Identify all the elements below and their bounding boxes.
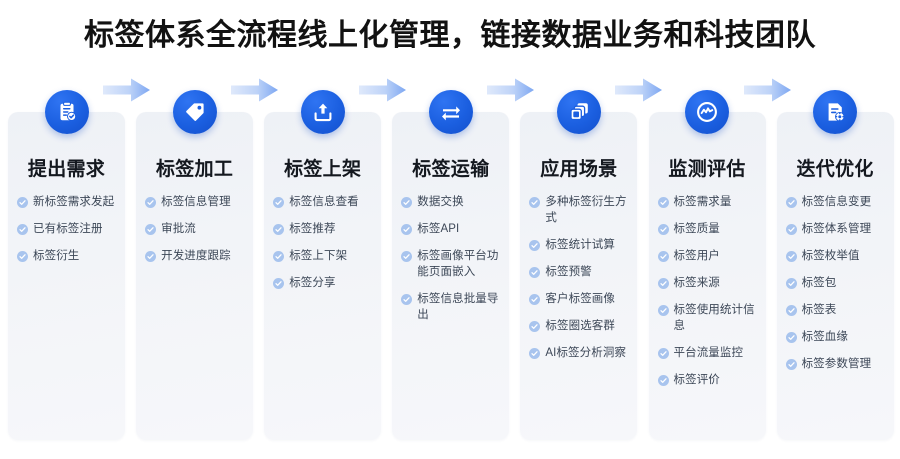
list-item-label: 标签包 [802, 275, 837, 291]
list-item-label: 标签评价 [674, 372, 720, 388]
check-circle-icon [658, 223, 669, 234]
list-item-label: 标签API [417, 221, 459, 237]
step-title: 标签加工 [136, 154, 253, 181]
process-step-card[interactable]: 标签加工标签信息管理审批流开发进度跟踪 [136, 112, 253, 440]
flow-arrow-icon [744, 76, 792, 104]
step-title: 标签上架 [264, 154, 381, 181]
check-circle-icon [273, 250, 284, 261]
list-item[interactable]: 多种标签衍生方式 [529, 194, 630, 226]
list-item-label: 标签信息批量导出 [417, 291, 502, 323]
list-item[interactable]: 数据交换 [401, 194, 502, 210]
list-item[interactable]: 标签来源 [658, 275, 759, 291]
list-item[interactable]: 开发进度跟踪 [145, 248, 246, 264]
infographic-page: 标签体系全流程线上化管理，链接数据业务和科技团队 提出需求新标签需求发起已有标签… [0, 0, 900, 459]
list-item[interactable]: 标签质量 [658, 221, 759, 237]
check-circle-icon [529, 293, 540, 304]
list-item[interactable]: 标签包 [786, 275, 887, 291]
check-circle-icon [401, 293, 412, 304]
check-circle-icon [273, 196, 284, 207]
list-item-label: 标签圈选客群 [545, 318, 615, 334]
step-feature-list: 新标签需求发起已有标签注册标签衍生 [17, 194, 118, 275]
list-item-label: 标签推荐 [289, 221, 335, 237]
list-item[interactable]: 标签体系管理 [786, 221, 887, 237]
process-step-card[interactable]: 提出需求新标签需求发起已有标签注册标签衍生 [8, 112, 125, 440]
list-item-label: 标签信息管理 [161, 194, 231, 210]
step-feature-list: 标签信息变更标签体系管理标签枚举值标签包标签表标签血缘标签参数管理 [786, 194, 887, 383]
list-item-label: 开发进度跟踪 [161, 248, 231, 264]
process-step-card[interactable]: 迭代优化标签信息变更标签体系管理标签枚举值标签包标签表标签血缘标签参数管理 [777, 112, 894, 440]
list-item-label: 客户标签画像 [545, 291, 615, 307]
list-item[interactable]: 标签枚举值 [786, 248, 887, 264]
flow-arrow-icon [615, 76, 663, 104]
list-item-label: 数据交换 [417, 194, 463, 210]
list-item[interactable]: 标签统计试算 [529, 237, 630, 253]
check-circle-icon [786, 250, 797, 261]
list-item-label: 多种标签衍生方式 [545, 194, 630, 226]
check-circle-icon [273, 223, 284, 234]
list-item[interactable]: 标签分享 [273, 275, 374, 291]
list-item-label: 标签统计试算 [545, 237, 615, 253]
check-circle-icon [529, 320, 540, 331]
layers-icon [557, 90, 601, 134]
check-circle-icon [658, 250, 669, 261]
step-feature-list: 数据交换标签API标签画像平台功能页面嵌入标签信息批量导出 [401, 194, 502, 334]
check-circle-icon [529, 266, 540, 277]
monitor-pulse-icon [685, 90, 729, 134]
document-gear-icon [813, 90, 857, 134]
step-title: 迭代优化 [777, 154, 894, 181]
check-circle-icon [145, 250, 156, 261]
flow-arrow-icon [487, 76, 535, 104]
step-feature-list: 标签需求量标签质量标签用户标签来源标签使用统计信息平台流量监控标签评价 [658, 194, 759, 399]
process-flow: 提出需求新标签需求发起已有标签注册标签衍生标签加工标签信息管理审批流开发进度跟踪… [0, 88, 900, 448]
check-circle-icon [658, 374, 669, 385]
list-item[interactable]: 平台流量监控 [658, 345, 759, 361]
flow-arrow-icon [103, 76, 151, 104]
step-feature-list: 多种标签衍生方式标签统计试算标签预警客户标签画像标签圈选客群AI标签分析洞察 [529, 194, 630, 372]
list-item[interactable]: 标签需求量 [658, 194, 759, 210]
check-circle-icon [786, 304, 797, 315]
list-item[interactable]: 标签用户 [658, 248, 759, 264]
process-step-card[interactable]: 标签上架标签信息查看标签推荐标签上下架标签分享 [264, 112, 381, 440]
list-item-label: 标签体系管理 [802, 221, 872, 237]
list-item-label: 标签质量 [674, 221, 720, 237]
check-circle-icon [17, 250, 28, 261]
list-item-label: 新标签需求发起 [33, 194, 114, 210]
list-item-label: 标签信息查看 [289, 194, 359, 210]
list-item[interactable]: 标签参数管理 [786, 356, 887, 372]
check-circle-icon [145, 196, 156, 207]
list-item[interactable]: 标签血缘 [786, 329, 887, 345]
check-circle-icon [17, 196, 28, 207]
list-item[interactable]: AI标签分析洞察 [529, 345, 630, 361]
check-circle-icon [658, 347, 669, 358]
list-item[interactable]: 客户标签画像 [529, 291, 630, 307]
check-circle-icon [786, 223, 797, 234]
exchange-arrows-icon [429, 90, 473, 134]
upload-icon [301, 90, 345, 134]
check-circle-icon [17, 223, 28, 234]
list-item-label: 标签来源 [674, 275, 720, 291]
list-item-label: 标签预警 [545, 264, 591, 280]
list-item-label: 标签血缘 [802, 329, 848, 345]
check-circle-icon [658, 277, 669, 288]
check-circle-icon [401, 223, 412, 234]
check-circle-icon [786, 277, 797, 288]
list-item-label: 标签参数管理 [802, 356, 872, 372]
check-circle-icon [401, 196, 412, 207]
step-title: 提出需求 [8, 154, 125, 181]
list-item-label: 审批流 [161, 221, 196, 237]
list-item-label: 标签用户 [674, 248, 720, 264]
list-item-label: 已有标签注册 [33, 221, 103, 237]
check-circle-icon [529, 196, 540, 207]
check-circle-icon [786, 331, 797, 342]
list-item[interactable]: 标签信息批量导出 [401, 291, 502, 323]
list-item[interactable]: 标签圈选客群 [529, 318, 630, 334]
list-item[interactable]: 标签使用统计信息 [658, 302, 759, 334]
list-item[interactable]: 标签信息管理 [145, 194, 246, 210]
list-item[interactable]: 标签评价 [658, 372, 759, 388]
list-item-label: 标签画像平台功能页面嵌入 [417, 248, 502, 280]
check-circle-icon [145, 223, 156, 234]
list-item-label: 标签表 [802, 302, 837, 318]
process-step-card[interactable]: 监测评估标签需求量标签质量标签用户标签来源标签使用统计信息平台流量监控标签评价 [649, 112, 766, 440]
flow-arrow-icon [231, 76, 279, 104]
step-title: 标签运输 [392, 154, 509, 181]
list-item[interactable]: 标签信息变更 [786, 194, 887, 210]
list-item[interactable]: 标签推荐 [273, 221, 374, 237]
list-item-label: 标签分享 [289, 275, 335, 291]
step-feature-list: 标签信息管理审批流开发进度跟踪 [145, 194, 246, 275]
check-circle-icon [658, 196, 669, 207]
list-item[interactable]: 新标签需求发起 [17, 194, 118, 210]
list-item[interactable]: 标签预警 [529, 264, 630, 280]
check-circle-icon [273, 277, 284, 288]
list-item[interactable]: 标签画像平台功能页面嵌入 [401, 248, 502, 280]
list-item[interactable]: 标签衍生 [17, 248, 118, 264]
list-item[interactable]: 标签上下架 [273, 248, 374, 264]
list-item-label: 标签信息变更 [802, 194, 872, 210]
check-circle-icon [529, 347, 540, 358]
list-item-label: AI标签分析洞察 [545, 345, 626, 361]
list-item[interactable]: 标签信息查看 [273, 194, 374, 210]
page-title: 标签体系全流程线上化管理，链接数据业务和科技团队 [0, 14, 900, 58]
flow-arrow-icon [359, 76, 407, 104]
list-item[interactable]: 已有标签注册 [17, 221, 118, 237]
process-step-card[interactable]: 应用场景多种标签衍生方式标签统计试算标签预警客户标签画像标签圈选客群AI标签分析… [520, 112, 637, 440]
list-item-label: 标签枚举值 [802, 248, 860, 264]
list-item-label: 平台流量监控 [674, 345, 744, 361]
step-title: 监测评估 [649, 154, 766, 181]
list-item-label: 标签使用统计信息 [674, 302, 759, 334]
step-title: 应用场景 [520, 154, 637, 181]
check-circle-icon [786, 196, 797, 207]
list-item-label: 标签需求量 [674, 194, 732, 210]
clipboard-check-icon [45, 90, 89, 134]
check-circle-icon [529, 239, 540, 250]
list-item-label: 标签上下架 [289, 248, 347, 264]
step-feature-list: 标签信息查看标签推荐标签上下架标签分享 [273, 194, 374, 302]
check-circle-icon [658, 304, 669, 315]
list-item[interactable]: 标签表 [786, 302, 887, 318]
check-circle-icon [786, 358, 797, 369]
list-item[interactable]: 审批流 [145, 221, 246, 237]
tag-icon [173, 90, 217, 134]
process-step-card[interactable]: 标签运输数据交换标签API标签画像平台功能页面嵌入标签信息批量导出 [392, 112, 509, 440]
check-circle-icon [401, 250, 412, 261]
list-item[interactable]: 标签API [401, 221, 502, 237]
list-item-label: 标签衍生 [33, 248, 79, 264]
